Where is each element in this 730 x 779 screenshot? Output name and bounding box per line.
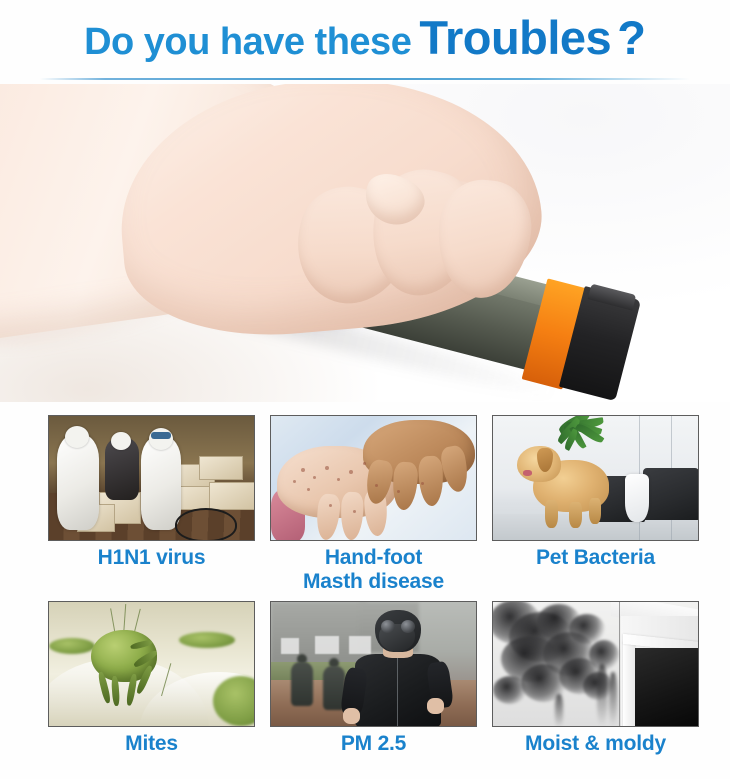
trouble-label-pet-bacteria: Pet Bacteria	[485, 546, 706, 570]
trouble-label-hand-foot-mouth: Hand-foot Masth disease	[263, 546, 484, 593]
trouble-thumbnail-h1n1-virus	[48, 415, 255, 541]
header-divider	[40, 78, 690, 80]
trouble-label-line: Pet Bacteria	[485, 546, 706, 570]
trouble-card-pet-bacteria[interactable]: Pet Bacteria	[485, 415, 706, 570]
trouble-label-mites: Mites	[41, 732, 262, 756]
trouble-thumbnail-mites	[48, 601, 255, 727]
trouble-thumbnail-pet-bacteria	[492, 415, 699, 541]
trouble-label-line: Moist & moldy	[485, 732, 706, 756]
page-title-lead: Do you have these	[84, 21, 411, 63]
trouble-thumbnail-pm25	[270, 601, 477, 727]
trouble-label-moist-moldy: Moist & moldy	[485, 732, 706, 756]
product-detail-page: Do you have theseTroubles?	[0, 0, 730, 779]
trouble-card-h1n1-virus[interactable]: H1N1 virus	[41, 415, 262, 570]
trouble-label-line: Mites	[41, 732, 262, 756]
art-rash-hands	[271, 416, 476, 540]
trouble-card-mites[interactable]: Mites	[41, 601, 262, 756]
art-black-mold-wall	[493, 602, 698, 726]
trouble-card-moist-moldy[interactable]: Moist & moldy	[485, 601, 706, 756]
page-title-question-mark: ?	[617, 11, 646, 64]
trouble-card-hand-foot-mouth[interactable]: Hand-foot Masth disease	[263, 415, 484, 593]
trouble-card-pm25[interactable]: PM 2.5	[263, 601, 484, 756]
art-runner-gas-mask	[271, 602, 476, 726]
trouble-label-pm25: PM 2.5	[263, 732, 484, 756]
page-title-main: Troubles	[419, 11, 611, 64]
page-header: Do you have theseTroubles?	[0, 0, 730, 92]
trouble-label-line: Hand-foot	[263, 546, 484, 570]
trouble-thumbnail-moist-moldy	[492, 601, 699, 727]
trouble-label-line: H1N1 virus	[41, 546, 262, 570]
art-dust-mite-macro	[49, 602, 254, 726]
art-hazmat-workers	[49, 416, 254, 540]
troubles-grid: H1N1 virus	[0, 406, 730, 779]
hero-product-photo	[0, 84, 730, 402]
trouble-label-h1n1-virus: H1N1 virus	[41, 546, 262, 570]
trouble-label-line: PM 2.5	[263, 732, 484, 756]
trouble-label-line: Masth disease	[263, 570, 484, 594]
trouble-thumbnail-hand-foot-mouth	[270, 415, 477, 541]
art-golden-retriever	[493, 416, 698, 540]
page-title: Do you have theseTroubles?	[0, 14, 730, 61]
